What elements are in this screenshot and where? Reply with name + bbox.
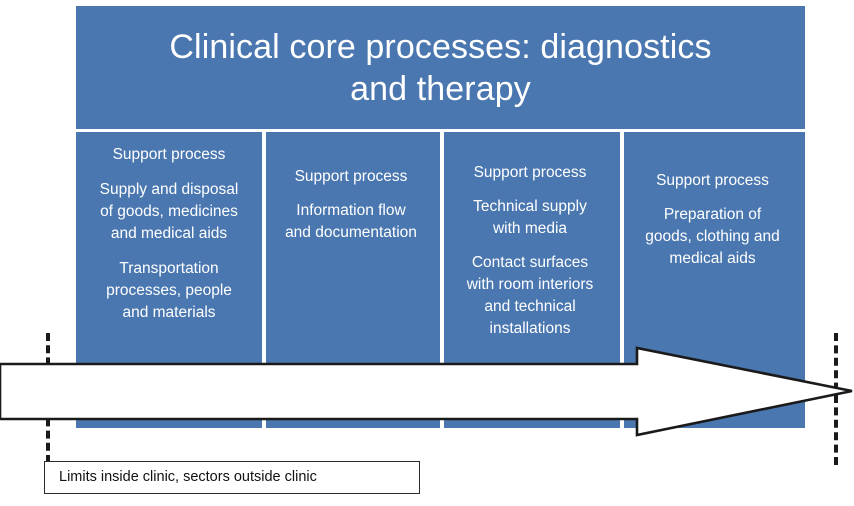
column-divider xyxy=(262,132,266,428)
support-process-column-supply: Support process Supply and disposal of g… xyxy=(76,132,262,428)
support-process-column-technical: Support process Technical supply with me… xyxy=(440,132,620,428)
column-divider xyxy=(620,132,624,428)
column-text: Information flow and documentation xyxy=(270,200,432,244)
column-text: Contact surfaces with room interiors and… xyxy=(448,252,612,340)
dashed-boundary-right-icon xyxy=(834,333,838,465)
column-text: Supply and disposal of goods, medicines … xyxy=(84,179,254,245)
support-process-column-information: Support process Information flow and doc… xyxy=(262,132,440,428)
column-heading: Support process xyxy=(84,144,254,166)
column-text: Technical supply with media xyxy=(448,196,612,240)
header-band: Clinical core processes: diagnostics and… xyxy=(76,6,805,130)
caption-text: Limits inside clinic, sectors outside cl… xyxy=(59,469,317,486)
column-heading: Support process xyxy=(270,166,432,188)
column-text: Transportation processes, people and mat… xyxy=(84,258,254,324)
column-divider xyxy=(440,132,444,428)
column-heading: Support process xyxy=(628,170,797,192)
dashed-boundary-left-icon xyxy=(46,333,50,463)
support-process-columns: Support process Supply and disposal of g… xyxy=(76,132,805,428)
support-process-column-preparation: Support process Preparation of goods, cl… xyxy=(620,132,805,428)
column-heading: Support process xyxy=(448,162,612,184)
page-title: Clinical core processes: diagnostics and… xyxy=(169,26,711,111)
caption-box: Limits inside clinic, sectors outside cl… xyxy=(44,461,420,494)
diagram-canvas: Clinical core processes: diagnostics and… xyxy=(0,0,854,506)
column-text: Preparation of goods, clothing and medic… xyxy=(628,204,797,270)
